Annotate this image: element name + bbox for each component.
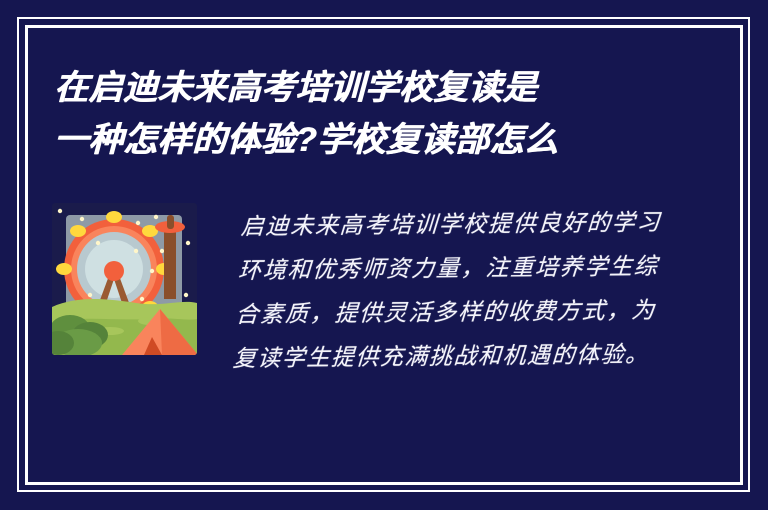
headline-line-2: 一种怎样的体验?学校复读部怎么	[54, 114, 675, 166]
content-row: 启迪未来高考培训学校提供良好的学习环境和优秀师资力量，注重培养学生综合素质，提供…	[52, 203, 672, 379]
headline: 在启迪未来高考培训学校复读是 一种怎样的体验?学校复读部怎么	[54, 62, 674, 166]
ferris-wheel-svg	[52, 203, 197, 355]
poster-card: 在启迪未来高考培训学校复读是 一种怎样的体验?学校复读部怎么	[0, 0, 768, 510]
headline-line-1: 在启迪未来高考培训学校复读是	[54, 62, 675, 114]
amusement-park-illustration	[52, 203, 197, 355]
body-paragraph: 启迪未来高考培训学校提供良好的学习环境和优秀师资力量，注重培养学生综合素质，提供…	[232, 201, 663, 381]
